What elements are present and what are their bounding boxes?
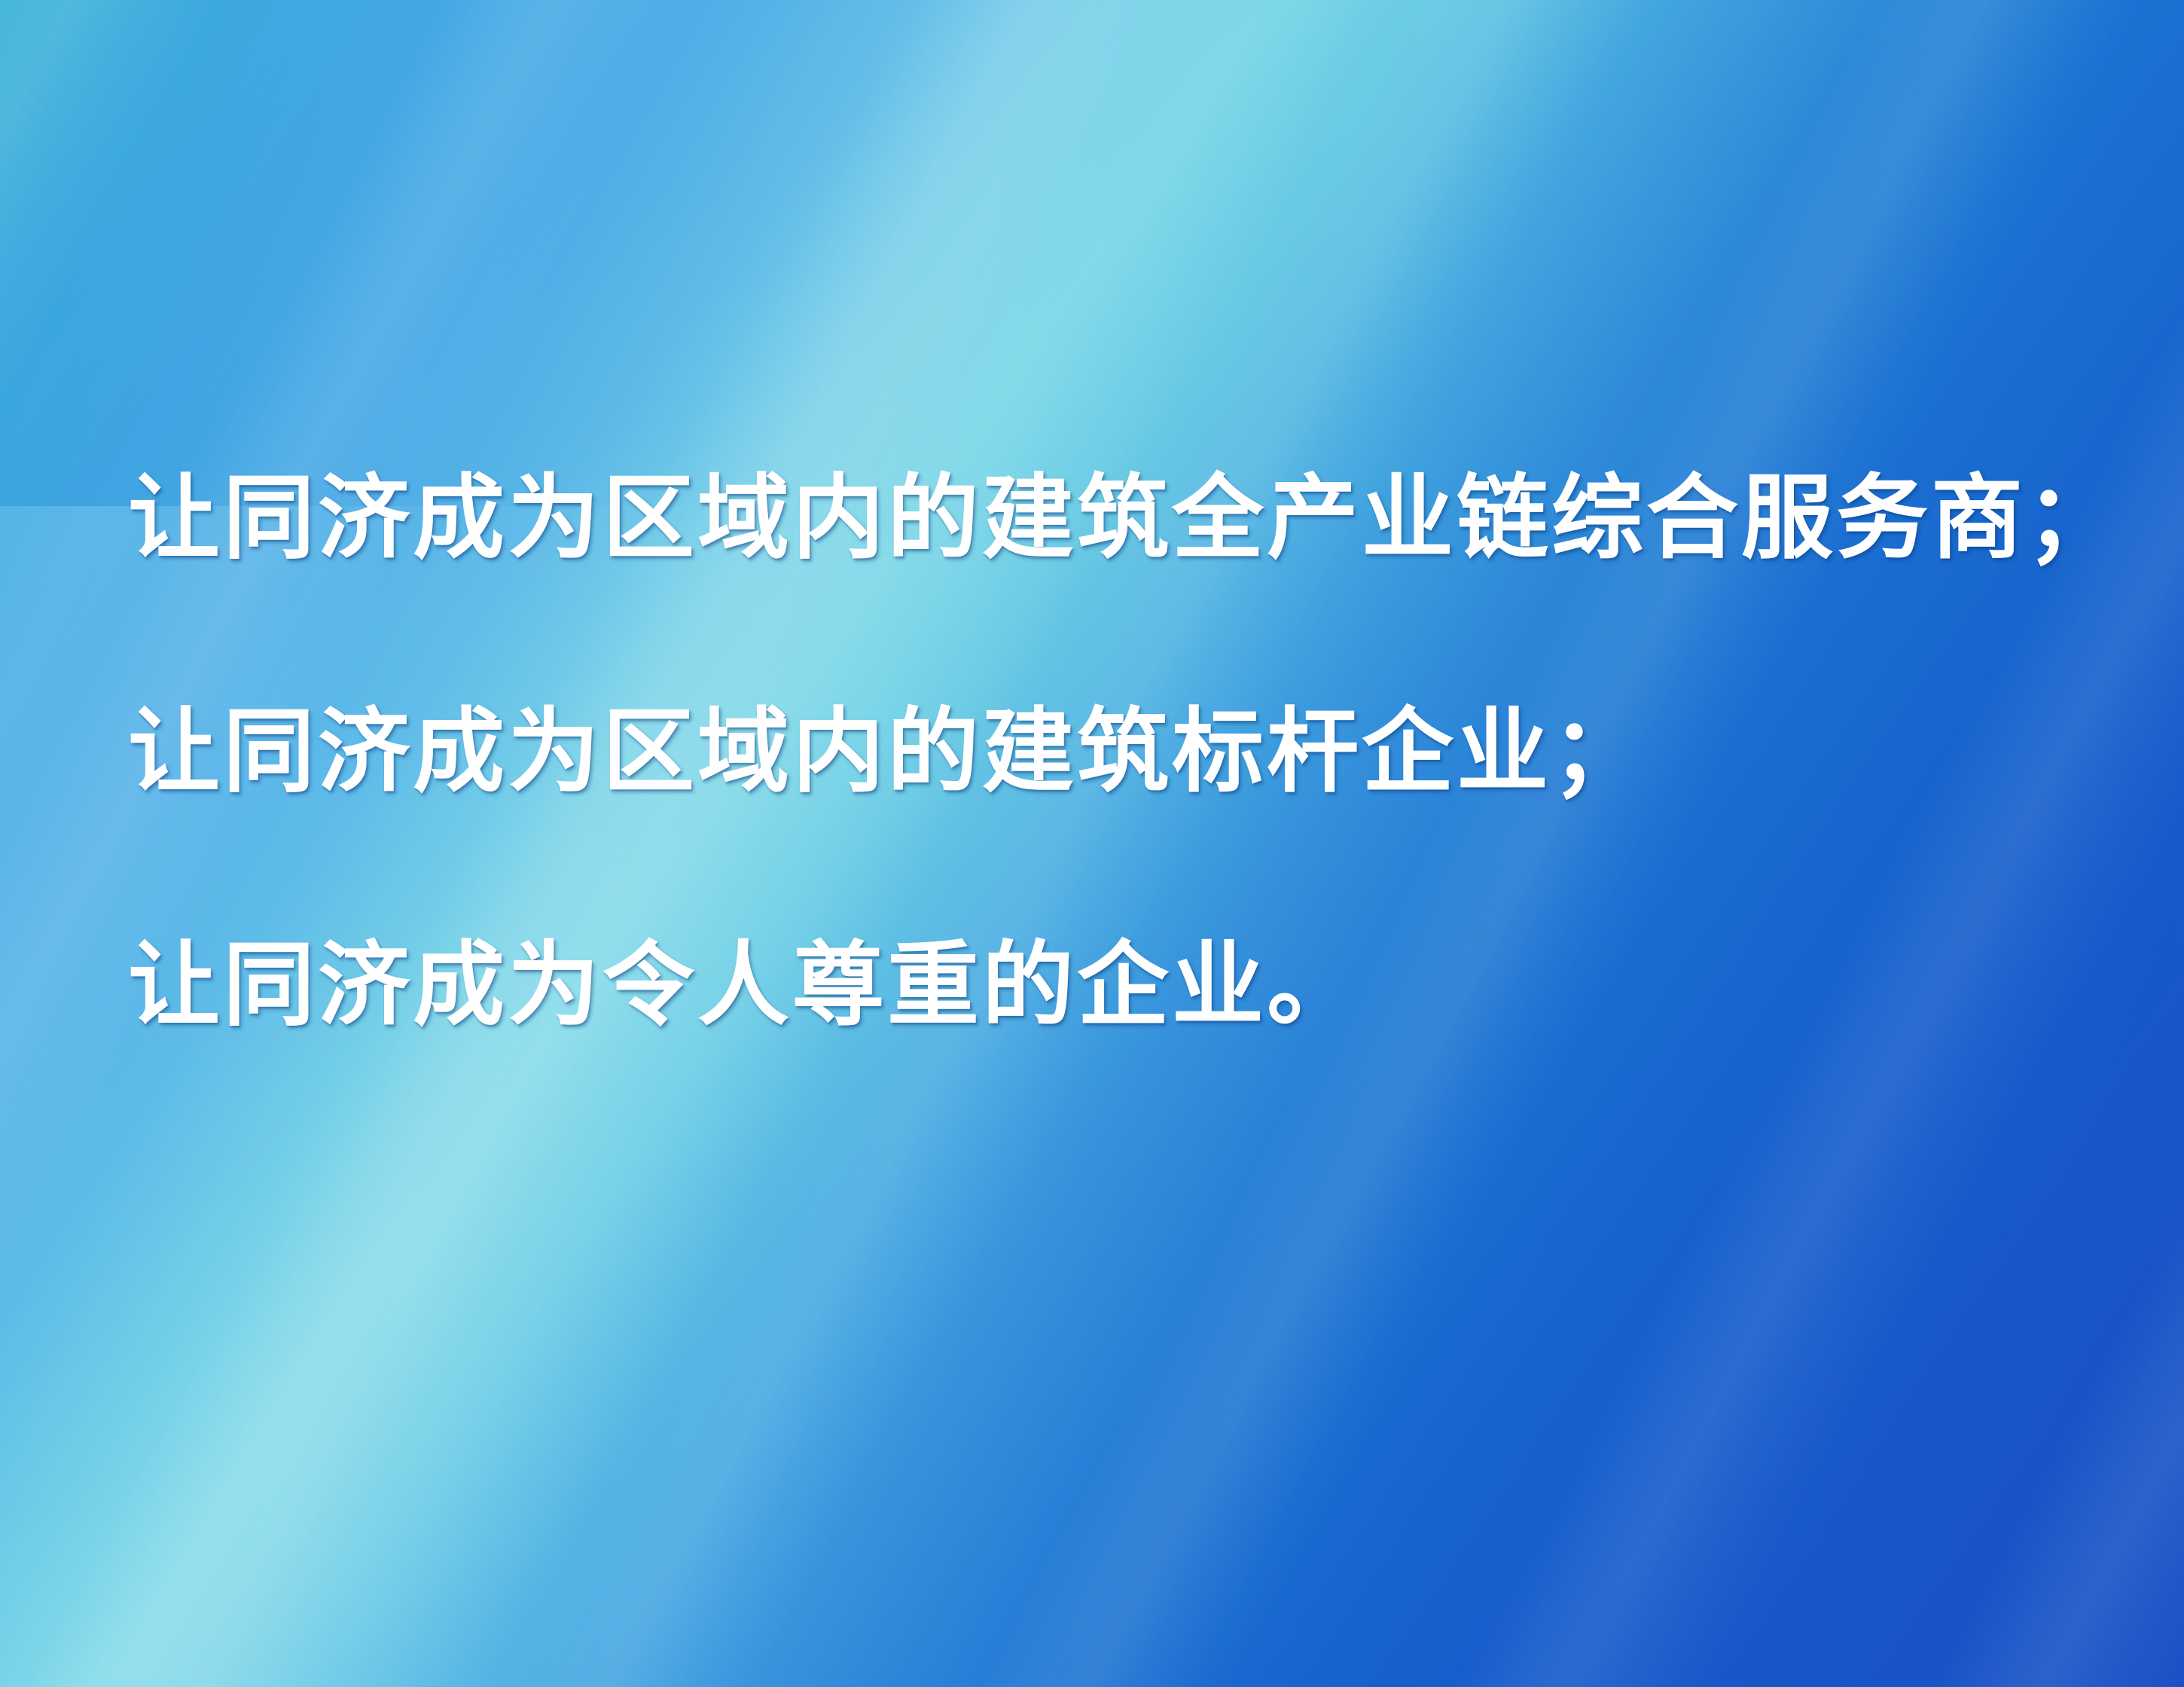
slide-text-line-2: 让同济成为区域内的建筑标杆企业； (128, 705, 2086, 797)
slide-text-block: 让同济成为区域内的建筑全产业链综合服务商； 让同济成为区域内的建筑标杆企业； 让… (128, 471, 2086, 1030)
slide-text-line-3: 让同济成为令人尊重的企业。 (128, 938, 2086, 1030)
slide-text-line-1: 让同济成为区域内的建筑全产业链综合服务商； (128, 471, 2086, 563)
presentation-slide: 让同济成为区域内的建筑全产业链综合服务商； 让同济成为区域内的建筑标杆企业； 让… (0, 0, 2184, 1687)
